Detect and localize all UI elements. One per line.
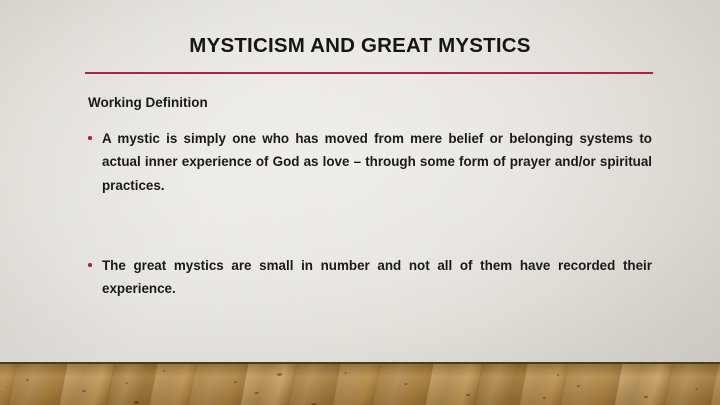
wood-knot: [134, 401, 140, 404]
list-item-text: The great mystics are small in number an…: [102, 254, 652, 324]
wood-knot: [125, 382, 127, 384]
wood-knot: [344, 372, 346, 374]
section-subheading: Working Definition: [88, 95, 652, 111]
list-item-text: A mystic is simply one who has moved fro…: [102, 127, 652, 220]
wood-knot: [26, 379, 29, 381]
bullet-dot-icon: [88, 263, 92, 267]
wood-knot: [254, 392, 258, 394]
wood-knot: [577, 385, 580, 387]
floor-edge-line: [0, 362, 720, 364]
wood-knot: [466, 394, 470, 396]
wood-knot: [234, 381, 237, 383]
bullet-list: A mystic is simply one who has moved fro…: [88, 127, 652, 323]
wood-knot: [543, 397, 546, 399]
presentation-slide: MYSTICISM AND GREAT MYSTICS Working Defi…: [0, 0, 720, 405]
list-item: The great mystics are small in number an…: [88, 254, 652, 324]
list-item: A mystic is simply one who has moved fro…: [88, 127, 652, 220]
wood-knot: [644, 396, 648, 398]
page-title: MYSTICISM AND GREAT MYSTICS: [60, 35, 660, 58]
wooden-floor-decoration: [0, 362, 720, 405]
wood-knot: [0, 391, 1, 393]
title-underline-rule: [85, 72, 653, 74]
wood-knot: [404, 383, 407, 385]
wood-knot: [82, 390, 86, 392]
wood-knot: [277, 373, 283, 376]
bullet-dot-icon: [88, 136, 92, 140]
wood-knot: [163, 370, 165, 372]
slide-body: Working Definition A mystic is simply on…: [88, 95, 652, 324]
wood-knot: [557, 374, 559, 376]
wood-knot: [695, 388, 697, 390]
